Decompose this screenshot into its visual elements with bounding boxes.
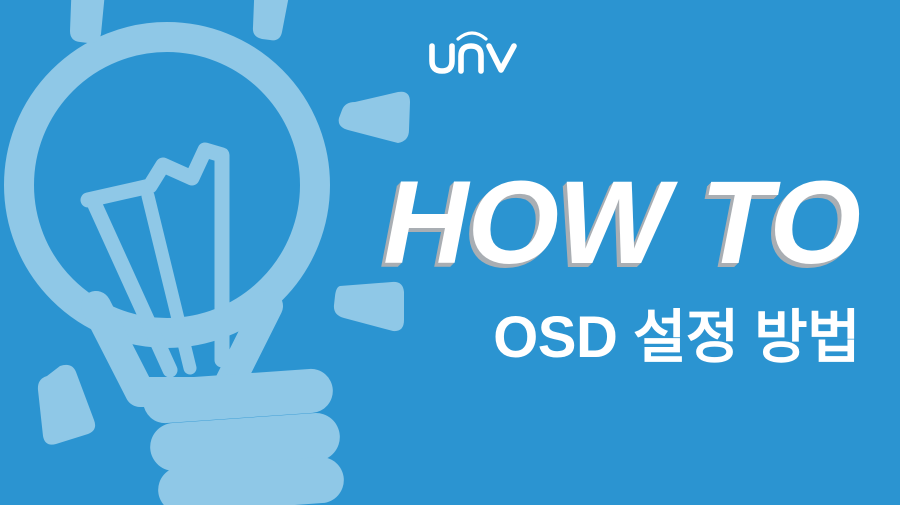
title-block: HOW TO OSD 설정 방법 — [0, 0, 900, 505]
headline-how-to: HOW TO — [300, 164, 860, 282]
subtitle-osd: OSD 설정 방법 — [300, 305, 860, 372]
slide-canvas: HOW TO OSD 설정 방법 — [0, 0, 900, 505]
